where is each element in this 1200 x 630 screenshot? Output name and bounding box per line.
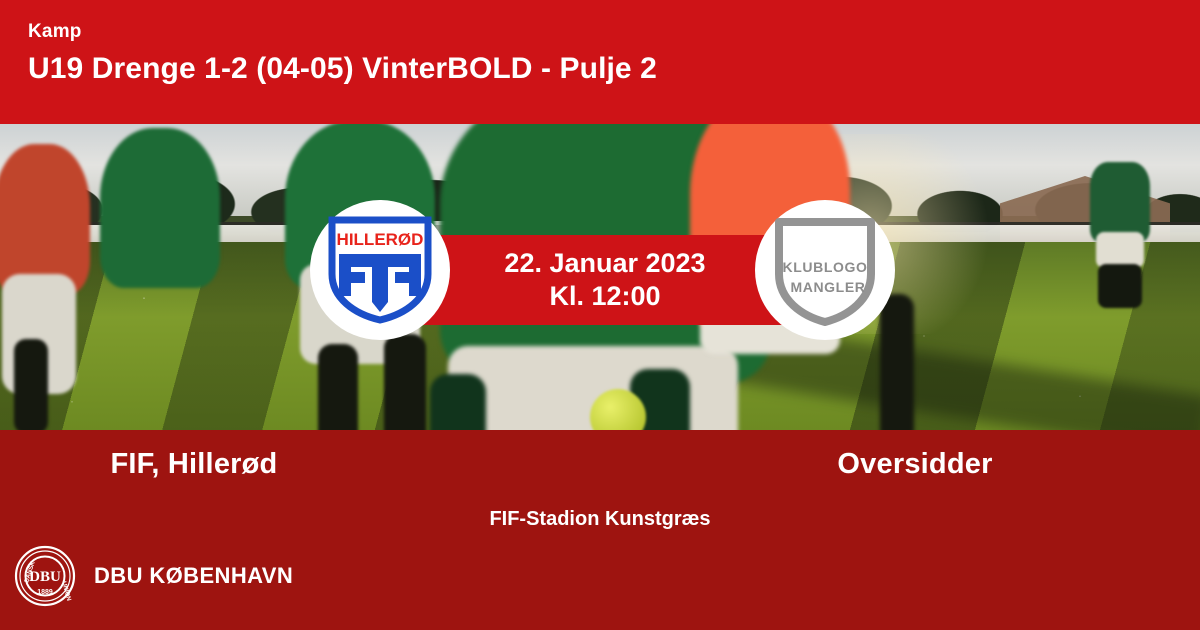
match-time: Kl. 12:00	[549, 280, 660, 313]
photo-front-leg-left	[430, 374, 486, 430]
home-team-name: FIF, Hillerød	[0, 448, 600, 481]
photo-distant-player-legs	[1098, 264, 1142, 308]
hillerod-crest-icon: HILLERØD	[328, 216, 432, 324]
dbu-seal-icon: BOLDSPIL DANSK UNION DBU 1889	[14, 545, 76, 607]
missing-logo-line1: KLUBLOGO	[783, 259, 868, 275]
photo-player-green-mid-leg-right	[384, 334, 426, 430]
away-team-name: Oversidder	[600, 448, 1200, 481]
photo-player-red	[0, 144, 90, 294]
venue-name: FIF-Stadion Kunstgræs	[0, 508, 1200, 531]
photo-player-red-legs	[14, 339, 48, 430]
missing-club-logo-icon: KLUBLOGO MANGLER	[772, 214, 878, 326]
missing-logo-line2: MANGLER	[791, 279, 866, 295]
photo-distant-player	[1090, 162, 1150, 242]
poster-header: Kamp U19 Drenge 1-2 (04-05) VinterBOLD -…	[0, 0, 1200, 124]
crest-club-text: HILLERØD	[337, 230, 424, 249]
footer-branding: BOLDSPIL DANSK UNION DBU 1889 DBU KØBENH…	[14, 545, 293, 607]
dbu-seal-year: 1889	[37, 589, 53, 596]
photo-side-leg	[880, 294, 914, 430]
team-names-row: FIF, Hillerød Oversidder	[0, 448, 1200, 481]
away-club-logo: KLUBLOGO MANGLER	[755, 200, 895, 340]
match-title: U19 Drenge 1-2 (04-05) VinterBOLD - Pulj…	[28, 52, 1200, 85]
kamp-label: Kamp	[28, 22, 1200, 41]
match-poster: Kamp U19 Drenge 1-2 (04-05) VinterBOLD -…	[0, 0, 1200, 630]
dbu-organisation-name: DBU KØBENHAVN	[94, 563, 293, 589]
match-date: 22. Januar 2023	[504, 247, 705, 280]
photo-player-green-back	[100, 128, 220, 288]
home-club-logo: HILLERØD	[310, 200, 450, 340]
dbu-seal-monogram: DBU	[29, 569, 61, 585]
photo-distant-player-shorts	[1096, 232, 1144, 268]
photo-player-green-mid-leg-left	[318, 344, 358, 430]
